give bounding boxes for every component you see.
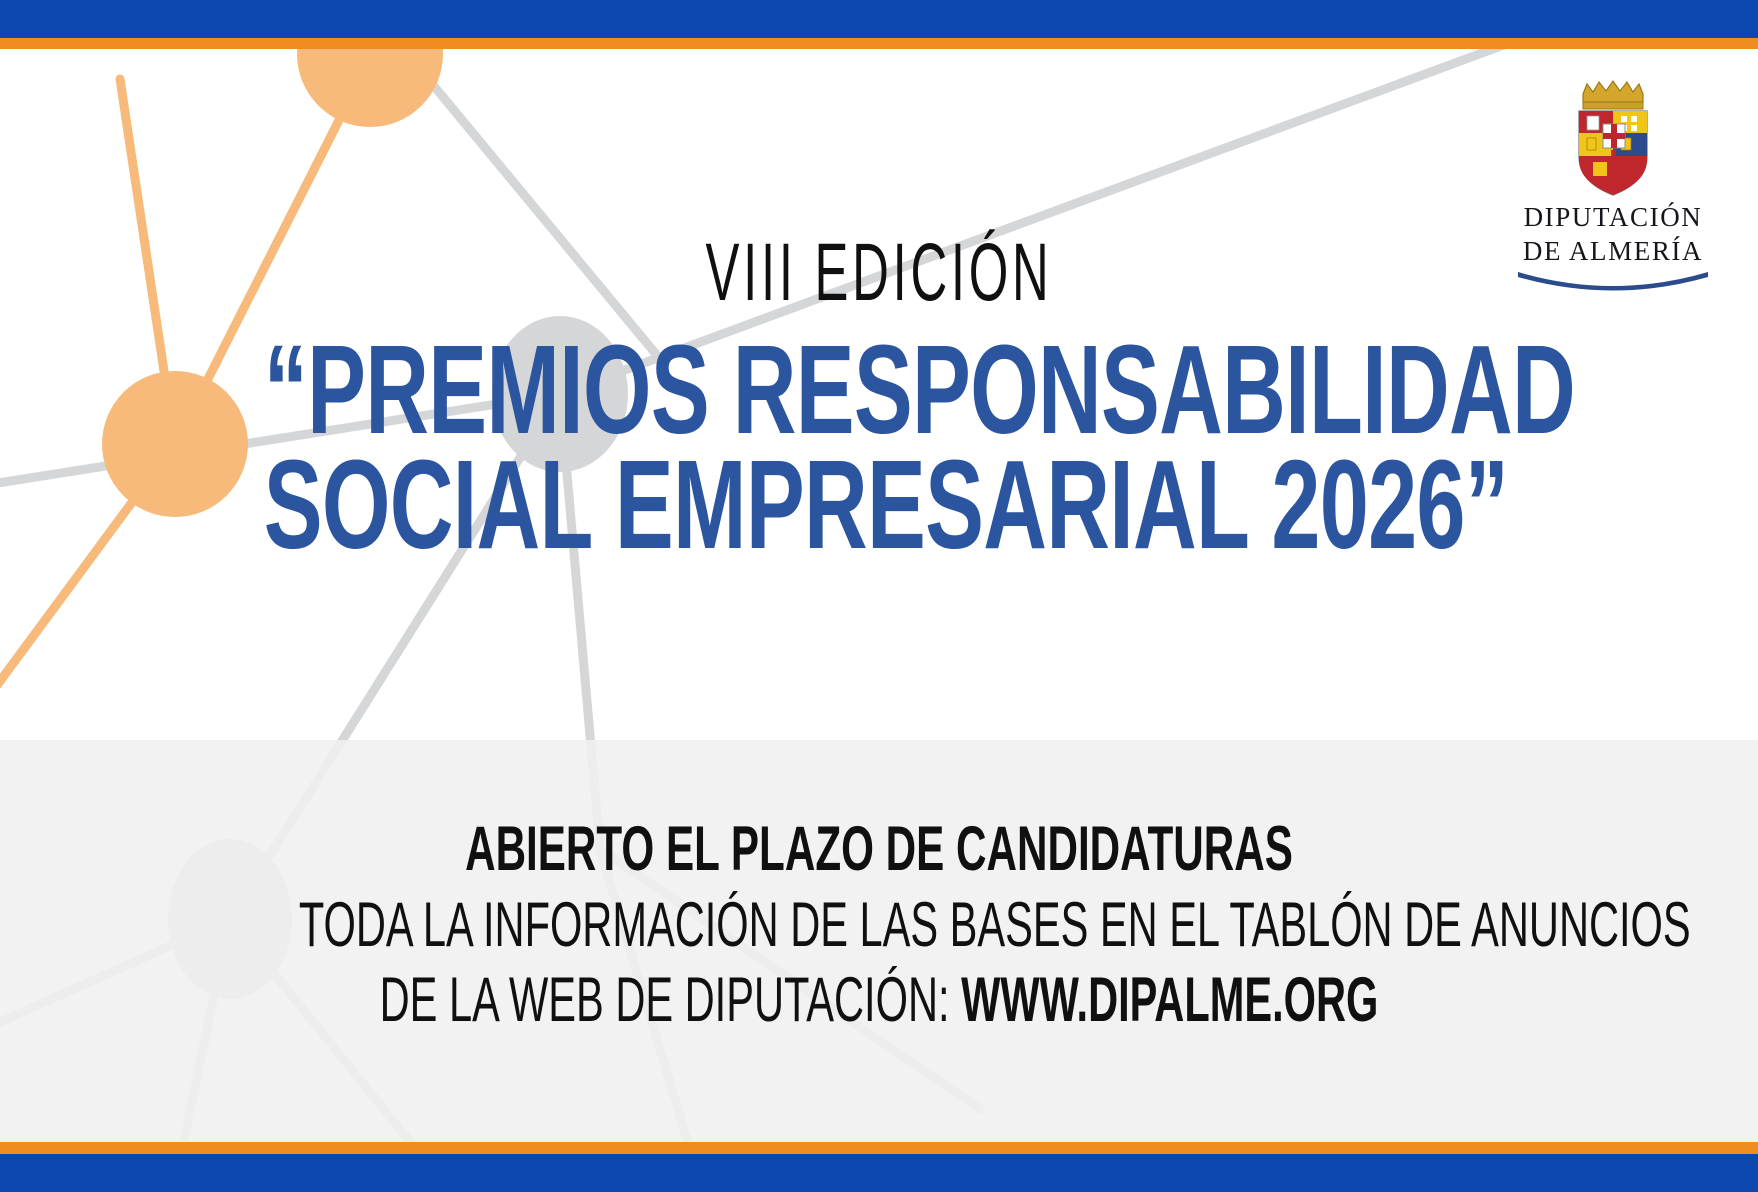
award-title-line-2: SOCIAL EMPRESARIAL 2026”: [264, 441, 1495, 570]
bottom-orange-stripe: [0, 1142, 1758, 1154]
bottom-blue-stripe: [0, 1154, 1758, 1192]
info-block: ABIERTO EL PLAZO DE CANDIDATURAS TODA LA…: [0, 818, 1758, 1032]
headline-block: VIII EDICIÓN “PREMIOS RESPONSABILIDAD SO…: [0, 232, 1758, 569]
top-blue-stripe: [0, 0, 1758, 38]
top-orange-stripe: [0, 38, 1758, 49]
website-url[interactable]: WWW.DIPALME.ORG: [961, 965, 1378, 1035]
poster-canvas: DIPUTACIÓN DE ALMERÍA VIII EDICIÓN “PREM…: [0, 0, 1758, 1192]
edition-label: VIII EDICIÓN: [334, 232, 1424, 314]
coat-of-arms-shield-icon: [1559, 78, 1667, 198]
info-line-2: TODA LA INFORMACIÓN DE LAS BASES EN EL T…: [299, 894, 1459, 957]
info-line-3: DE LA WEB DE DIPUTACIÓN: WWW.DIPALME.ORG: [299, 969, 1459, 1032]
info-line-3-prefix: DE LA WEB DE DIPUTACIÓN:: [380, 965, 961, 1035]
logo-line-1: DIPUTACIÓN: [1498, 202, 1728, 232]
call-open-heading: ABIERTO EL PLAZO DE CANDIDATURAS: [290, 818, 1468, 881]
